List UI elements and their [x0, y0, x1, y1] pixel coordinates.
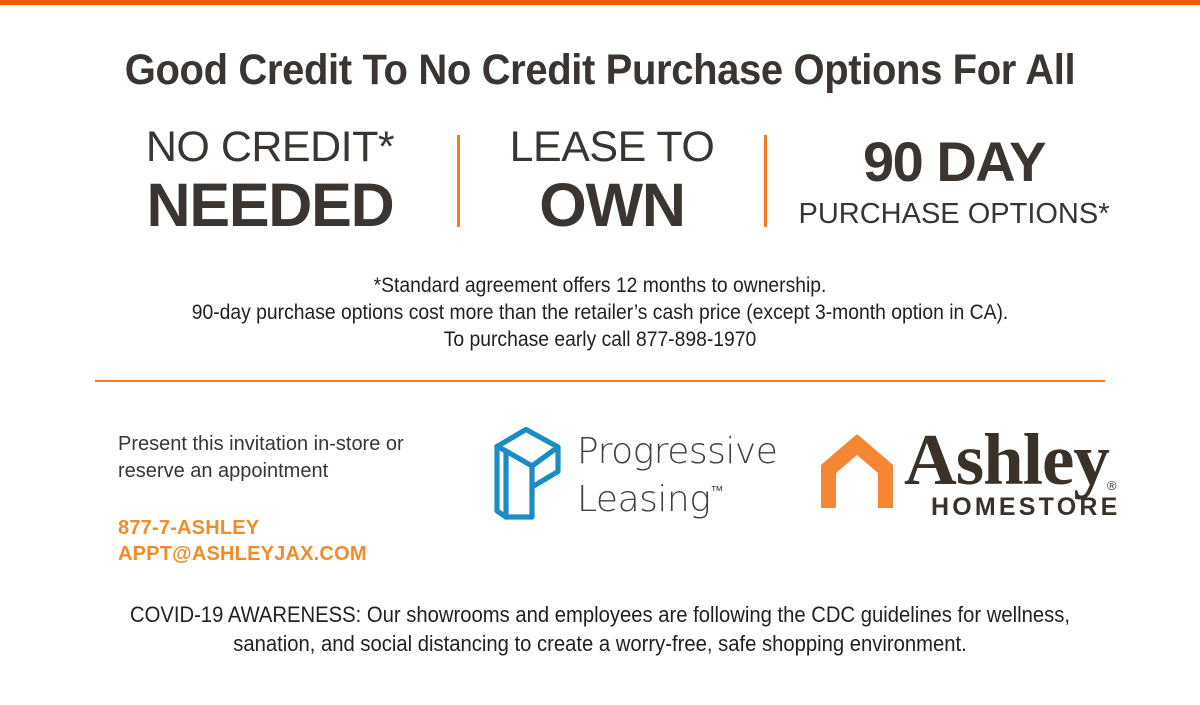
covid-line-2: sanation, and social distancing to creat…: [48, 629, 1152, 658]
page-title: Good Credit To No Credit Purchase Option…: [42, 46, 1158, 95]
offer-lease-to-own: LEASE TO OWN: [472, 126, 752, 236]
homestore-wordmark: HOMESTORE: [931, 495, 1120, 520]
ashley-wordmark: Ashley®: [904, 423, 1116, 496]
invitation-contact: 877-7-ASHLEY APPT@ASHLEYJAX.COM: [118, 515, 463, 567]
phone-link[interactable]: 877-7-ASHLEY: [118, 515, 463, 541]
section-divider-rule: [95, 380, 1105, 382]
disclaimer-line-1: *Standard agreement offers 12 months to …: [48, 272, 1152, 299]
invitation-line-2: reserve an appointment: [118, 458, 463, 485]
ashley-word-text: Ashley: [904, 419, 1109, 500]
progressive-leasing-logo: Progressive Leasing™: [492, 425, 777, 526]
top-accent-bar: [0, 0, 1200, 5]
disclaimer-line-3: To purchase early call 877-898-1970: [48, 326, 1152, 353]
offer-columns: NO CREDIT* NEEDED LEASE TO OWN 90 DAY PU…: [95, 126, 1105, 236]
progressive-leasing-wordmark: Progressive Leasing™: [577, 432, 777, 520]
offer-2-line-2: OWN: [472, 175, 752, 236]
invitation-and-logos: Present this invitation in-store or rese…: [0, 425, 1200, 560]
progressive-word-2: Leasing: [577, 479, 710, 520]
offer-3-line-2: PURCHASE OPTIONS*: [779, 200, 1129, 229]
email-link[interactable]: APPT@ASHLEYJAX.COM: [118, 541, 463, 567]
offer-divider-2: [764, 135, 767, 227]
invitation-text: Present this invitation in-store or rese…: [118, 431, 463, 485]
disclaimer-text: *Standard agreement offers 12 months to …: [48, 272, 1152, 353]
offer-2-line-1: LEASE TO: [472, 126, 752, 169]
registered-symbol: ®: [1107, 478, 1116, 493]
offer-1-line-1: NO CREDIT*: [95, 126, 445, 169]
covid-notice: COVID-19 AWARENESS: Our showrooms and em…: [48, 600, 1152, 658]
offer-90-day-purchase: 90 DAY PURCHASE OPTIONS*: [779, 134, 1129, 229]
trademark-symbol: ™: [710, 484, 723, 499]
covid-line-1: COVID-19 AWARENESS: Our showrooms and em…: [48, 600, 1152, 629]
offer-1-line-2: NEEDED: [95, 175, 445, 236]
offer-3-line-1: 90 DAY: [779, 134, 1129, 190]
disclaimer-line-2: 90-day purchase options cost more than t…: [48, 299, 1152, 326]
progressive-p-mark-icon: [492, 425, 564, 526]
invitation-line-1: Present this invitation in-store or: [118, 431, 463, 458]
ashley-homestore-logo: Ashley® HOMESTORE: [818, 427, 1108, 542]
flyer-page: Good Credit To No Credit Purchase Option…: [0, 0, 1200, 705]
house-icon: [818, 431, 896, 516]
offer-no-credit-needed: NO CREDIT* NEEDED: [95, 126, 445, 236]
offer-divider-1: [457, 135, 460, 227]
progressive-word-1: Progressive: [577, 431, 777, 472]
invitation-block: Present this invitation in-store or rese…: [118, 431, 463, 567]
